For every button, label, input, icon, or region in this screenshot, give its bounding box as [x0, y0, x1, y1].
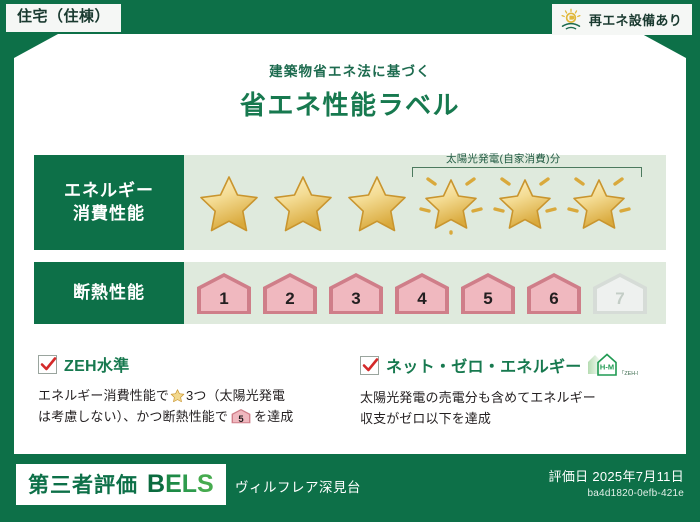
insulation-performance-row: 断熱性能 1 2 3 — [34, 262, 666, 324]
title-subtitle: 建築物省エネ法に基づく — [0, 60, 700, 80]
houses-area: 1 2 3 4 — [184, 262, 666, 324]
svg-text:H-M: H-M — [600, 363, 614, 372]
netzero-checkbox[interactable] — [360, 356, 379, 375]
zeh-body-part1: エネルギー消費性能で — [38, 388, 169, 403]
check-icon — [362, 357, 379, 374]
criteria-zeh-title: ZEH水準 — [64, 352, 130, 376]
footer: 第三者評価 BELS ヴィルフレア深見台 評価日 2025年7月11日 ba4d… — [0, 454, 700, 522]
category-tag: 住宅（住棟） — [6, 4, 121, 32]
star-rating-item-shining — [488, 164, 562, 242]
zeh-body-part2: は考慮しない）、かつ断熱性能で — [38, 409, 228, 424]
star-rating-item-shining — [562, 164, 636, 242]
house-icon — [457, 270, 519, 316]
check-icon — [40, 356, 57, 373]
page-title: 省エネ性能ラベル — [0, 85, 700, 122]
netzero-body-part2: 収支がゼロ以下を達成 — [360, 411, 491, 426]
insulation-row-label: 断熱性能 — [34, 262, 184, 324]
inline-house-icon: 5 — [230, 408, 252, 424]
house-icon — [325, 270, 387, 316]
bels-letter-b: B — [147, 470, 165, 498]
shining-star-icon — [492, 171, 558, 235]
third-party-evaluation-label: 第三者評価 — [28, 469, 138, 499]
insulation-grade-item: 6 — [523, 270, 585, 316]
star-rating-item — [340, 164, 414, 242]
netzero-body-part1: 太陽光発電の売電分も含めてエネルギー — [360, 390, 596, 405]
evaluation-id: ba4d1820-0efb-421e — [549, 488, 684, 499]
criteria-netzero-body: 太陽光発電の売電分も含めてエネルギー 収支がゼロ以下を達成 — [360, 387, 668, 429]
evaluation-date: 評価日 2025年7月11日 — [549, 466, 684, 485]
criteria-columns: ZEH水準 エネルギー消費性能で3つ（太陽光発電 は考慮しない）、かつ断熱性能で… — [38, 352, 668, 429]
bels-certification-box: 第三者評価 BELS — [16, 464, 226, 505]
bels-label-root: 住宅（住棟） 再エネ設備あり 建築物省エネ法に基づく 省エネ性能ラベル — [0, 0, 700, 522]
zeh-m-logo-icon: H-M 「ZEH-M」 — [586, 352, 638, 378]
title-block: 建築物省エネ法に基づく 省エネ性能ラベル — [0, 60, 700, 122]
criteria-zeh-header: ZEH水準 — [38, 352, 346, 376]
star-rating-item — [266, 164, 340, 242]
star-icon — [196, 171, 262, 235]
bels-letter-s: S — [197, 470, 214, 498]
stars-area: 太陽光発電(自家消費)分 — [184, 155, 666, 250]
bels-letter-l: L — [182, 470, 197, 498]
energy-row-label: エネルギー 消費性能 — [34, 155, 184, 250]
insulation-grade-item-inactive: 7 — [589, 270, 651, 316]
criteria-netzero-column: ネット・ゼロ・エネルギー H-M 「ZEH-M」 太陽光発電の売電分も含めてエネ… — [360, 352, 668, 429]
star-icon — [344, 171, 410, 235]
renewable-energy-badge: 再エネ設備あり — [552, 4, 692, 35]
bels-wordmark: BELS — [147, 470, 214, 499]
criteria-netzero-title: ネット・ゼロ・エネルギー — [386, 353, 582, 377]
zeh-star-count: 3つ（太陽光発電 — [186, 388, 285, 403]
insulation-grade-item: 3 — [325, 270, 387, 316]
criteria-zeh-body: エネルギー消費性能で3つ（太陽光発電 は考慮しない）、かつ断熱性能で5を達成 — [38, 385, 346, 427]
shining-star-icon — [566, 171, 632, 235]
star-rating-item-shining — [414, 164, 488, 242]
house-icon — [193, 270, 255, 316]
criteria-zeh-column: ZEH水準 エネルギー消費性能で3つ（太陽光発電 は考慮しない）、かつ断熱性能で… — [38, 352, 346, 429]
house-icon — [391, 270, 453, 316]
house-icon — [589, 270, 651, 316]
house-icon — [259, 270, 321, 316]
zeh-m-caption: 「ZEH-M」 — [619, 370, 638, 377]
evaluation-info: 評価日 2025年7月11日 ba4d1820-0efb-421e — [549, 466, 684, 499]
star-icon — [270, 171, 336, 235]
insulation-grade-item: 5 — [457, 270, 519, 316]
insulation-grade-item: 4 — [391, 270, 453, 316]
building-name: ヴィルフレア深見台 — [235, 476, 361, 496]
insulation-grade-item: 2 — [259, 270, 321, 316]
shining-star-icon — [418, 171, 484, 235]
renewable-badge-label: 再エネ設備あり — [589, 10, 682, 29]
criteria-netzero-header: ネット・ゼロ・エネルギー H-M 「ZEH-M」 — [360, 352, 668, 378]
energy-performance-row: エネルギー 消費性能 太陽光発電(自家消費)分 — [34, 155, 666, 250]
star-rating-item — [192, 164, 266, 242]
zeh-body-part3: を達成 — [254, 409, 293, 424]
inline-star-icon — [170, 388, 185, 403]
zeh-checkbox[interactable] — [38, 355, 57, 374]
insulation-grade-item: 1 — [193, 270, 255, 316]
energy-row-label-line2: 消費性能 — [73, 203, 145, 226]
house-icon — [523, 270, 585, 316]
bels-letter-e: E — [165, 470, 182, 498]
energy-row-label-line1: エネルギー — [64, 180, 154, 203]
inline-house-number: 5 — [230, 412, 252, 427]
sun-icon — [559, 8, 583, 30]
